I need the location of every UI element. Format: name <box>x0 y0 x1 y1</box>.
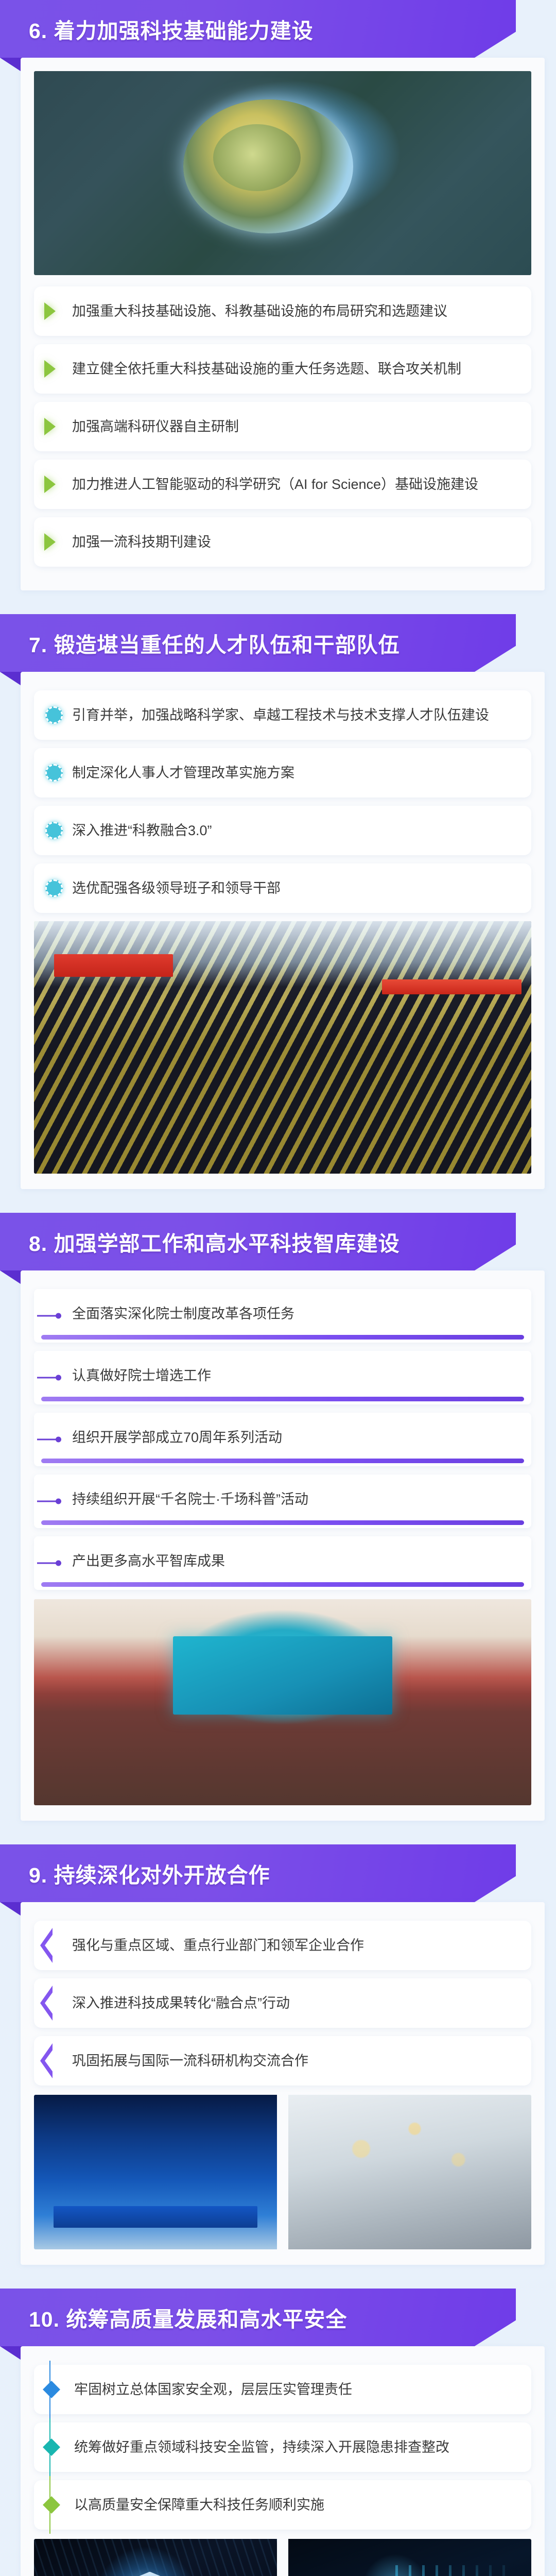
list-item-label: 加强高端科研仪器自主研制 <box>72 415 239 438</box>
list-item-label: 持续组织开展“千名院士·千场科普”活动 <box>72 1488 308 1511</box>
section-8-photo <box>34 1599 531 1805</box>
section-6-title: 6. 着力加强科技基础能力建设 <box>0 13 314 44</box>
list-item-label: 引育并举，加强战略科学家、卓越工程技术与技术支撑人才队伍建设 <box>72 704 489 726</box>
section-gap <box>0 1821 556 1844</box>
section-6-banner: 6. 着力加强科技基础能力建设 <box>0 0 556 58</box>
line-dot-marker-icon <box>37 1313 61 1319</box>
list-item-label: 统筹做好重点领域科技安全监管，持续深入开展隐患排查整改 <box>74 2436 449 2459</box>
section-9-items: 强化与重点区域、重点行业部门和领军企业合作 深入推进科技成果转化“融合点”行动 … <box>34 1921 531 2086</box>
section-7-items: 引育并举，加强战略科学家、卓越工程技术与技术支撑人才队伍建设 制定深化人事人才管… <box>34 690 531 913</box>
list-item[interactable]: 强化与重点区域、重点行业部门和领军企业合作 <box>34 1921 531 1970</box>
infographic-page: 6. 着力加强科技基础能力建设 加强重大科技基础设施、科教基础设施的布局研究和选… <box>0 0 556 2576</box>
section-9-photos <box>34 2095 531 2249</box>
list-item[interactable]: 加力推进人工智能驱动的科学研究（AI for Science）基础设施建设 <box>34 460 531 509</box>
list-item[interactable]: 组织开展学部成立70周年系列活动 <box>34 1413 531 1466</box>
list-item-label: 深入推进科技成果转化“融合点”行动 <box>72 1992 290 2014</box>
section-gap <box>0 590 556 614</box>
ring-marker-icon <box>45 822 63 839</box>
section-6-banner-shape: 6. 着力加强科技基础能力建设 <box>0 0 516 58</box>
section-6-card: 加强重大科技基础设施、科教基础设施的布局研究和选题建议 建立健全依托重大科技基础… <box>21 58 545 590</box>
section-7-title: 7. 锻造堪当重任的人才队伍和干部队伍 <box>0 628 400 658</box>
section-8-items: 全面落实深化院士制度改革各项任务 认真做好院士增选工作 组织开展学部成立70周年… <box>34 1289 531 1590</box>
arrow-marker-icon <box>44 418 56 435</box>
banner-red-right <box>382 979 521 994</box>
ring-marker-icon <box>45 706 63 724</box>
section-8-card: 全面落实深化院士制度改革各项任务 认真做好院士增选工作 组织开展学部成立70周年… <box>21 1270 545 1821</box>
list-item-label: 产出更多高水平智库成果 <box>72 1550 225 1572</box>
section-9-title: 9. 持续深化对外开放合作 <box>0 1858 270 1889</box>
line-dot-marker-icon <box>37 1561 61 1566</box>
science-forum-image <box>34 2095 277 2249</box>
diamond-marker-icon <box>43 2381 60 2398</box>
section-9: 9. 持续深化对外开放合作 强化与重点区域、重点行业部门和领军企业合作 深入推进… <box>0 1844 556 2265</box>
section-10-banner-shape: 10. 统筹高质量发展和高水平安全 <box>0 2289 516 2346</box>
list-item[interactable]: 深入推进科技成果转化“融合点”行动 <box>34 1978 531 2028</box>
line-dot-marker-icon <box>37 1499 61 1504</box>
ring-marker-icon <box>45 764 63 782</box>
list-item-label: 以高质量安全保障重大科技任务顺利实施 <box>74 2494 324 2516</box>
arrow-marker-icon <box>44 360 56 378</box>
cybersecurity-shield-image <box>34 2539 277 2576</box>
list-item[interactable]: 加强重大科技基础设施、科教基础设施的布局研究和选题建议 <box>34 286 531 336</box>
diamond-marker-icon <box>43 2496 60 2514</box>
section-9-banner-shape: 9. 持续深化对外开放合作 <box>0 1844 516 1902</box>
diamond-marker-icon <box>43 2438 60 2456</box>
list-item[interactable]: 以高质量安全保障重大科技任务顺利实施 <box>34 2480 531 2530</box>
section-10-photos <box>34 2539 531 2576</box>
line-dot-marker-icon <box>37 1437 61 1443</box>
list-item-label: 加力推进人工智能驱动的科学研究（AI for Science）基础设施建设 <box>72 473 478 496</box>
list-item[interactable]: 产出更多高水平智库成果 <box>34 1536 531 1590</box>
chevron-marker-icon <box>40 1928 53 1963</box>
list-item[interactable]: 建立健全依托重大科技基础设施的重大任务选题、联合攻关机制 <box>34 344 531 394</box>
list-item[interactable]: 统筹做好重点领域科技安全监管，持续深入开展隐患排查整改 <box>34 2422 531 2472</box>
list-item[interactable]: 制定深化人事人才管理改革实施方案 <box>34 748 531 798</box>
list-item[interactable]: 深入推进“科教融合3.0” <box>34 806 531 855</box>
list-item-label: 强化与重点区域、重点行业部门和领军企业合作 <box>72 1934 364 1957</box>
section-8-banner: 8. 加强学部工作和高水平科技智库建设 <box>0 1213 556 1270</box>
section-6-items: 加强重大科技基础设施、科教基础设施的布局研究和选题建议 建立健全依托重大科技基础… <box>34 286 531 567</box>
section-10: 10. 统筹高质量发展和高水平安全 牢固树立总体国家安全观，层层压实管理责任 统… <box>0 2289 556 2576</box>
list-item-label: 制定深化人事人才管理改革实施方案 <box>72 761 294 784</box>
cleanroom-researchers-image <box>288 2095 531 2249</box>
list-item-label: 巩固拓展与国际一流科研机构交流合作 <box>72 2049 308 2072</box>
list-item[interactable]: 认真做好院士增选工作 <box>34 1351 531 1404</box>
list-item[interactable]: 加强一流科技期刊建设 <box>34 517 531 567</box>
list-item-label: 组织开展学部成立70周年系列活动 <box>72 1426 282 1449</box>
science-facility-image <box>34 71 531 275</box>
academic-conference-image <box>34 1599 531 1805</box>
list-item[interactable]: 选优配强各级领导班子和领导干部 <box>34 863 531 913</box>
section-10-items: 牢固树立总体国家安全观，层层压实管理责任 统筹做好重点领域科技安全监管，持续深入… <box>34 2365 531 2530</box>
section-10-card: 牢固树立总体国家安全观，层层压实管理责任 统筹做好重点领域科技安全监管，持续深入… <box>21 2346 545 2576</box>
section-7-banner-shape: 7. 锻造堪当重任的人才队伍和干部队伍 <box>0 614 516 672</box>
section-8-banner-shape: 8. 加强学部工作和高水平科技智库建设 <box>0 1213 516 1270</box>
chevron-marker-icon <box>40 2043 53 2078</box>
section-6-photo <box>34 71 531 275</box>
list-item-label: 全面落实深化院士制度改革各项任务 <box>72 1302 294 1325</box>
section-7-banner: 7. 锻造堪当重任的人才队伍和干部队伍 <box>0 614 556 672</box>
section-8-title: 8. 加强学部工作和高水平科技智库建设 <box>0 1226 400 1257</box>
section-gap <box>0 1189 556 1213</box>
list-item-label: 认真做好院士增选工作 <box>72 1364 211 1387</box>
list-item[interactable]: 牢固树立总体国家安全观，层层压实管理责任 <box>34 2365 531 2414</box>
arrow-marker-icon <box>44 533 56 551</box>
line-dot-marker-icon <box>37 1375 61 1381</box>
section-7-photo <box>34 921 531 1174</box>
list-item[interactable]: 巩固拓展与国际一流科研机构交流合作 <box>34 2036 531 2086</box>
section-9-banner: 9. 持续深化对外开放合作 <box>0 1844 556 1902</box>
list-item-label: 加强重大科技基础设施、科教基础设施的布局研究和选题建议 <box>72 300 447 323</box>
list-item-label: 牢固树立总体国家安全观，层层压实管理责任 <box>74 2378 352 2401</box>
list-item[interactable]: 加强高端科研仪器自主研制 <box>34 402 531 451</box>
section-8: 8. 加强学部工作和高水平科技智库建设 全面落实深化院士制度改革各项任务 认真做… <box>0 1213 556 1821</box>
arrow-marker-icon <box>44 302 56 320</box>
list-item-label: 加强一流科技期刊建设 <box>72 531 211 553</box>
list-item-label: 选优配强各级领导班子和领导干部 <box>72 877 281 900</box>
graduation-ceremony-image <box>34 921 531 1174</box>
section-10-banner: 10. 统筹高质量发展和高水平安全 <box>0 2289 556 2346</box>
section-10-title: 10. 统筹高质量发展和高水平安全 <box>0 2302 347 2333</box>
list-item-label: 建立健全依托重大科技基础设施的重大任务选题、联合攻关机制 <box>72 358 461 380</box>
section-gap <box>0 2265 556 2289</box>
section-7-card: 引育并举，加强战略科学家、卓越工程技术与技术支撑人才队伍建设 制定深化人事人才管… <box>21 672 545 1189</box>
ring-marker-icon <box>45 879 63 897</box>
data-chart-touch-image <box>288 2539 531 2576</box>
chevron-marker-icon <box>40 1986 53 2021</box>
section-7: 7. 锻造堪当重任的人才队伍和干部队伍 引育并举，加强战略科学家、卓越工程技术与… <box>0 614 556 1189</box>
section-9-card: 强化与重点区域、重点行业部门和领军企业合作 深入推进科技成果转化“融合点”行动 … <box>21 1902 545 2265</box>
list-item-label: 深入推进“科教融合3.0” <box>72 819 212 842</box>
list-item[interactable]: 全面落实深化院士制度改革各项任务 <box>34 1289 531 1343</box>
list-item[interactable]: 持续组织开展“千名院士·千场科普”活动 <box>34 1475 531 1528</box>
section-6: 6. 着力加强科技基础能力建设 加强重大科技基础设施、科教基础设施的布局研究和选… <box>0 0 556 590</box>
banner-red-left <box>54 954 173 977</box>
list-item[interactable]: 引育并举，加强战略科学家、卓越工程技术与技术支撑人才队伍建设 <box>34 690 531 740</box>
arrow-marker-icon <box>44 476 56 493</box>
